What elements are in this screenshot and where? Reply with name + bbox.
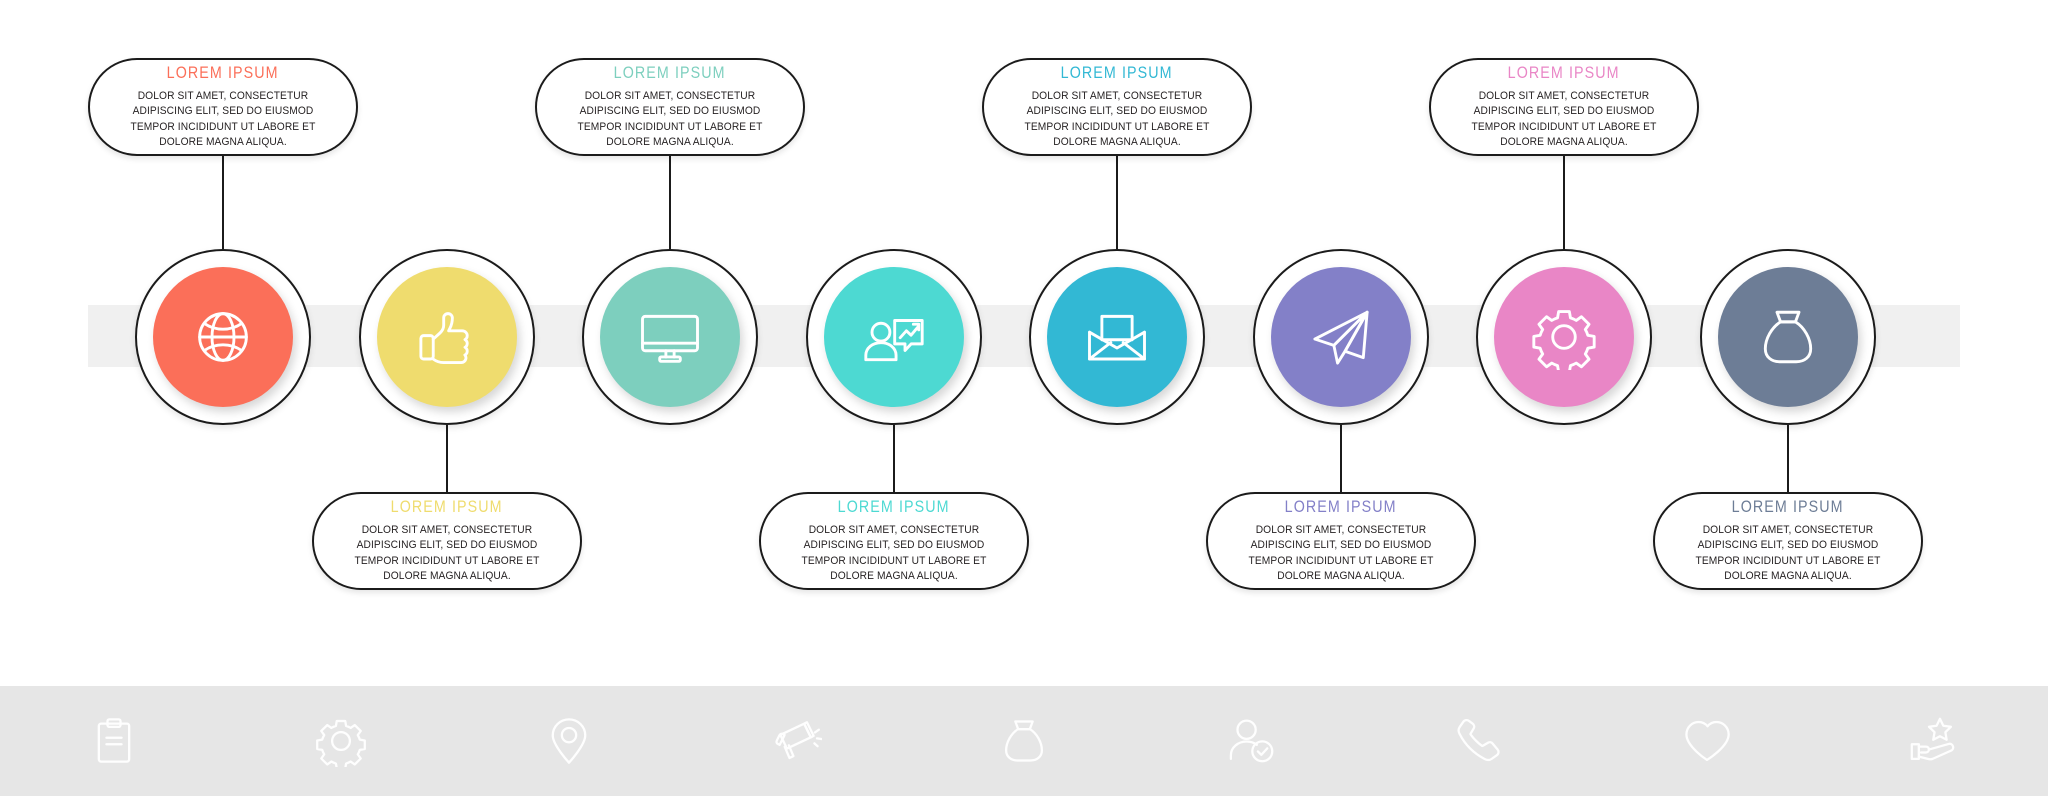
info-card-2[interactable]: LOREM IPSUMDOLOR SIT AMET, CONSECTETUR A…	[312, 492, 582, 590]
connector-line-5	[1116, 156, 1118, 249]
info-card-title: LOREM IPSUM	[837, 497, 949, 517]
connector-line-2	[446, 425, 448, 492]
timeline-node-2[interactable]	[359, 249, 535, 425]
footer-gear-icon[interactable]	[228, 686, 456, 796]
node-disc-6[interactable]	[1271, 267, 1411, 407]
info-card-body: DOLOR SIT AMET, CONSECTETUR ADIPISCING E…	[1464, 89, 1663, 151]
footer-icon-bar	[0, 686, 2048, 796]
info-card-title: LOREM IPSUM	[1508, 63, 1620, 83]
timeline-node-7[interactable]	[1476, 249, 1652, 425]
node-disc-8[interactable]	[1718, 267, 1858, 407]
globe-icon	[190, 304, 256, 370]
info-card-body: DOLOR SIT AMET, CONSECTETUR ADIPISCING E…	[570, 89, 769, 151]
info-card-title: LOREM IPSUM	[1284, 497, 1396, 517]
info-card-body: DOLOR SIT AMET, CONSECTETUR ADIPISCING E…	[1241, 523, 1440, 585]
info-card-body: DOLOR SIT AMET, CONSECTETUR ADIPISCING E…	[123, 89, 322, 151]
info-card-5[interactable]: LOREM IPSUMDOLOR SIT AMET, CONSECTETUR A…	[982, 58, 1252, 156]
timeline-node-5[interactable]	[1029, 249, 1205, 425]
footer-clipboard-icon[interactable]	[0, 686, 228, 796]
node-disc-3[interactable]	[600, 267, 740, 407]
info-card-title: LOREM IPSUM	[167, 63, 279, 83]
node-disc-1[interactable]	[153, 267, 293, 407]
timeline-node-1[interactable]	[135, 249, 311, 425]
info-card-3[interactable]: LOREM IPSUMDOLOR SIT AMET, CONSECTETUR A…	[535, 58, 805, 156]
timeline-node-8[interactable]	[1700, 249, 1876, 425]
info-card-8[interactable]: LOREM IPSUMDOLOR SIT AMET, CONSECTETUR A…	[1653, 492, 1923, 590]
connector-line-4	[893, 425, 895, 492]
info-card-body: DOLOR SIT AMET, CONSECTETUR ADIPISCING E…	[794, 523, 993, 585]
footer-location-pin-icon[interactable]	[455, 686, 683, 796]
info-card-title: LOREM IPSUM	[390, 497, 502, 517]
info-card-4[interactable]: LOREM IPSUMDOLOR SIT AMET, CONSECTETUR A…	[759, 492, 1029, 590]
gear-icon	[1531, 304, 1597, 370]
open-envelope-icon	[1084, 304, 1150, 370]
footer-user-check-icon[interactable]	[1138, 686, 1366, 796]
info-card-body: DOLOR SIT AMET, CONSECTETUR ADIPISCING E…	[1688, 523, 1887, 585]
node-disc-7[interactable]	[1494, 267, 1634, 407]
info-card-body: DOLOR SIT AMET, CONSECTETUR ADIPISCING E…	[1017, 89, 1216, 151]
info-card-title: LOREM IPSUM	[1061, 63, 1173, 83]
connector-line-7	[1563, 156, 1565, 249]
connector-line-8	[1787, 425, 1789, 492]
timeline-node-6[interactable]	[1253, 249, 1429, 425]
footer-megaphone-icon[interactable]	[683, 686, 911, 796]
money-bag-icon	[1755, 304, 1821, 370]
monitor-icon	[637, 304, 703, 370]
info-card-7[interactable]: LOREM IPSUMDOLOR SIT AMET, CONSECTETUR A…	[1429, 58, 1699, 156]
timeline-node-4[interactable]	[806, 249, 982, 425]
info-card-6[interactable]: LOREM IPSUMDOLOR SIT AMET, CONSECTETUR A…	[1206, 492, 1476, 590]
connector-line-6	[1340, 425, 1342, 492]
footer-heart-icon[interactable]	[1593, 686, 1821, 796]
info-card-title: LOREM IPSUM	[614, 63, 726, 83]
thumbs-up-icon	[414, 304, 480, 370]
node-disc-2[interactable]	[377, 267, 517, 407]
connector-line-3	[669, 156, 671, 249]
info-card-1[interactable]: LOREM IPSUMDOLOR SIT AMET, CONSECTETUR A…	[88, 58, 358, 156]
footer-hand-star-icon[interactable]	[1821, 686, 2048, 796]
connector-line-1	[222, 156, 224, 249]
infographic-canvas: LOREM IPSUMDOLOR SIT AMET, CONSECTETUR A…	[0, 0, 2048, 796]
node-disc-4[interactable]	[824, 267, 964, 407]
info-card-title: LOREM IPSUM	[1731, 497, 1843, 517]
user-growth-chart-icon	[861, 304, 927, 370]
timeline-node-3[interactable]	[582, 249, 758, 425]
paper-plane-icon	[1308, 304, 1374, 370]
footer-money-bag-icon[interactable]	[910, 686, 1138, 796]
footer-phone-icon[interactable]	[1365, 686, 1593, 796]
node-disc-5[interactable]	[1047, 267, 1187, 407]
info-card-body: DOLOR SIT AMET, CONSECTETUR ADIPISCING E…	[347, 523, 546, 585]
